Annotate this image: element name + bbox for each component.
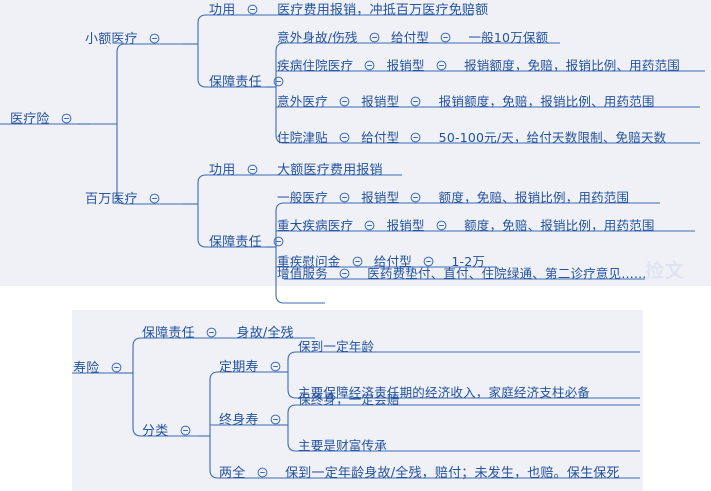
circle-minus-icon[interactable]	[111, 362, 122, 373]
node-value: 保到一定年龄身故/全残，赔付；未发生，也赔。保生保死	[285, 467, 620, 480]
row-value-added-services[interactable]: 增值服务 医药费垫付、直付、住院绿通、第二诊疗意见……	[277, 268, 647, 281]
row-cell-0: 意外医疗	[277, 96, 328, 109]
row-cell-2: 额度，免赔、报销比例，用药范围	[464, 220, 655, 233]
node-label: 寿险	[73, 362, 99, 375]
note-term-life-1: 保到一定年龄	[298, 341, 374, 354]
row-cell-0: 住院津贴	[277, 132, 328, 145]
node-label: 医疗险	[10, 113, 50, 126]
row-cell-1: 报销型	[387, 220, 425, 233]
node-million-medical[interactable]: 百万医疗	[85, 193, 167, 206]
node-label: 分类	[142, 425, 168, 438]
row-cell-1: 医药费垫付、直付、住院绿通、第二诊疗意见……	[367, 268, 646, 281]
row-disease-hospitalization[interactable]: 疾病住院医疗 报销型 报销额度，免赔，报销比例、用药范围	[277, 60, 680, 73]
row-cell-1: 报销型	[361, 192, 399, 205]
circle-minus-icon[interactable]	[180, 425, 191, 436]
node-small-medical-coverage[interactable]: 保障责任	[209, 76, 291, 89]
note-whole-life-1: 保终身，一定会赔	[298, 394, 400, 407]
row-hospital-allowance[interactable]: 住院津贴 给付型 50-100元/天，给付天数限制、免赔天数	[277, 132, 666, 145]
node-small-medical[interactable]: 小额医疗	[85, 33, 167, 46]
node-label: 终身寿	[219, 414, 259, 427]
row-cell-0: 意外身故/伤残	[277, 32, 358, 45]
circle-minus-icon[interactable]	[436, 60, 447, 71]
row-cell-1: 给付型	[361, 132, 399, 145]
circle-minus-icon[interactable]	[364, 60, 375, 71]
circle-minus-icon[interactable]	[436, 220, 447, 231]
row-accident-medical[interactable]: 意外医疗 报销型 报销额度，免赔，报销比例、用药范围	[277, 96, 655, 109]
node-endowment[interactable]: 两全 保到一定年龄身故/全残，赔付；未发生，也赔。保生保死	[219, 467, 620, 480]
row-accident-death-disability[interactable]: 意外身故/伤残 给付型 一般10万保额	[277, 32, 548, 45]
node-life-category[interactable]: 分类	[142, 425, 198, 438]
node-value: 大额医疗费用报销	[277, 164, 383, 177]
row-cell-0: 一般医疗	[277, 192, 328, 205]
row-cell-2: 报销额度，免赔，报销比例、用药范围	[439, 96, 655, 109]
circle-minus-icon[interactable]	[339, 192, 350, 203]
node-label: 功用	[209, 4, 235, 17]
circle-minus-icon[interactable]	[339, 132, 350, 143]
circle-minus-icon[interactable]	[273, 236, 284, 247]
circle-minus-icon[interactable]	[410, 192, 421, 203]
row-cell-0: 重大疾病医疗	[277, 220, 353, 233]
node-life-coverage[interactable]: 保障责任 身故/全残	[142, 327, 294, 340]
circle-minus-icon[interactable]	[364, 220, 375, 231]
node-value: 身故/全残	[237, 327, 294, 340]
node-label: 百万医疗	[85, 193, 138, 206]
circle-minus-icon[interactable]	[61, 113, 72, 124]
watermark: 捡文	[645, 256, 685, 283]
circle-minus-icon[interactable]	[149, 193, 160, 204]
circle-minus-icon[interactable]	[206, 327, 217, 338]
circle-minus-icon[interactable]	[270, 414, 281, 425]
node-label: 保障责任	[209, 236, 262, 249]
circle-minus-icon[interactable]	[247, 164, 258, 175]
note-text: 主要是财富传承	[298, 440, 387, 453]
row-cell-2: 报销额度，免赔，报销比例、用药范围	[464, 60, 680, 73]
row-cell-0: 疾病住院医疗	[277, 60, 353, 73]
node-label: 定期寿	[219, 361, 259, 374]
node-small-medical-function[interactable]: 功用 医疗费用报销，冲抵百万医疗免赔额	[209, 4, 488, 17]
node-label: 保障责任	[209, 76, 262, 89]
row-cell-2: 50-100元/天，给付天数限制、免赔天数	[439, 132, 667, 145]
node-value: 医疗费用报销，冲抵百万医疗免赔额	[277, 4, 488, 17]
node-label: 小额医疗	[85, 33, 138, 46]
circle-minus-icon[interactable]	[339, 96, 350, 107]
node-life-root[interactable]: 寿险	[73, 362, 129, 375]
circle-minus-icon[interactable]	[270, 361, 281, 372]
note-text: 保终身，一定会赔	[298, 394, 400, 407]
node-medical-root[interactable]: 医疗险	[10, 113, 79, 126]
row-cell-1: 给付型	[391, 32, 429, 45]
circle-minus-icon[interactable]	[149, 33, 160, 44]
circle-minus-icon[interactable]	[247, 4, 258, 15]
row-cell-2: 一般10万保额	[468, 32, 548, 45]
circle-minus-icon[interactable]	[273, 76, 284, 87]
row-cell-1: 报销型	[361, 96, 399, 109]
note-text: 保到一定年龄	[298, 341, 374, 354]
circle-minus-icon[interactable]	[257, 467, 268, 478]
row-cell-2: 额度，免赔、报销比例，用药范围	[439, 192, 630, 205]
circle-minus-icon[interactable]	[339, 268, 350, 279]
row-critical-illness-medical[interactable]: 重大疾病医疗 报销型 额度，免赔、报销比例，用药范围	[277, 220, 655, 233]
circle-minus-icon[interactable]	[410, 96, 421, 107]
node-term-life[interactable]: 定期寿	[219, 361, 288, 374]
row-cell-1: 报销型	[387, 60, 425, 73]
node-label: 功用	[209, 164, 235, 177]
circle-minus-icon[interactable]	[369, 32, 380, 43]
row-cell-0: 增值服务	[277, 268, 328, 281]
node-million-medical-function[interactable]: 功用 大额医疗费用报销	[209, 164, 383, 177]
circle-minus-icon[interactable]	[410, 132, 421, 143]
node-whole-life[interactable]: 终身寿	[219, 414, 288, 427]
node-label: 两全	[219, 467, 245, 480]
node-million-medical-coverage[interactable]: 保障责任	[209, 236, 291, 249]
circle-minus-icon[interactable]	[440, 32, 451, 43]
row-general-medical[interactable]: 一般医疗 报销型 额度，免赔、报销比例，用药范围	[277, 192, 629, 205]
note-whole-life-2: 主要是财富传承	[298, 440, 387, 453]
node-label: 保障责任	[142, 327, 195, 340]
